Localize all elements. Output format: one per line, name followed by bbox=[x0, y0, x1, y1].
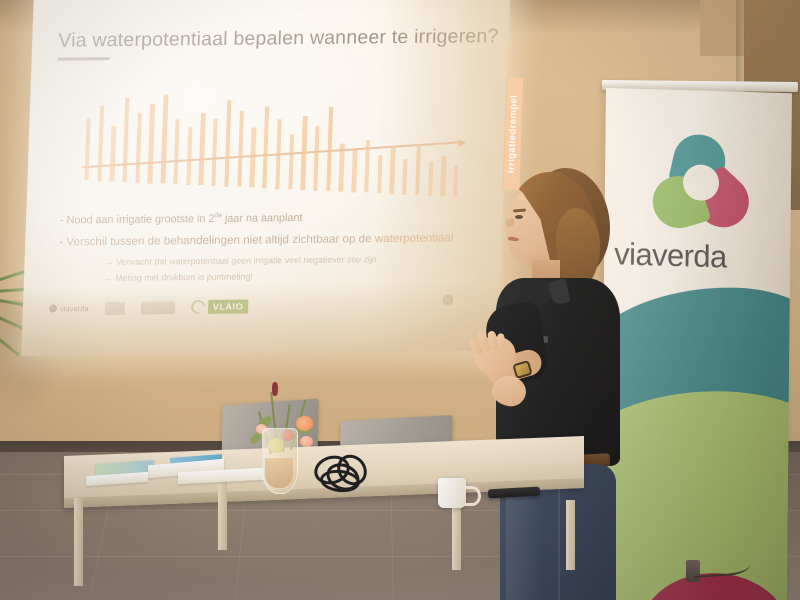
coffee-mug[interactable] bbox=[438, 478, 466, 508]
chart-bars bbox=[85, 72, 485, 76]
vlaio-swoosh-icon bbox=[188, 297, 208, 316]
flower-bloom bbox=[300, 436, 313, 447]
nose bbox=[505, 218, 514, 227]
bullet-text-tail: jaar na aanplant bbox=[222, 212, 303, 225]
chart-bar bbox=[97, 106, 104, 180]
chart-bar bbox=[288, 134, 294, 189]
chart-bar bbox=[390, 148, 396, 194]
threshold-label-text: Irrigatiedrempel bbox=[506, 95, 520, 173]
logo-center-hole bbox=[683, 164, 719, 201]
projection-screen: Via waterpotentiaal bepalen wanneer te i… bbox=[21, 0, 510, 356]
chart-bar bbox=[224, 100, 231, 186]
bullet-marker: - bbox=[59, 236, 63, 249]
sub-bullet-text: Verwacht dat waterpotentiaal geen irriga… bbox=[116, 254, 377, 267]
mug-handle bbox=[463, 486, 481, 506]
logo-partner-2 bbox=[141, 301, 175, 314]
chart-bar bbox=[148, 104, 155, 183]
chart-bar bbox=[135, 113, 142, 183]
chart-bar bbox=[186, 127, 192, 185]
bullet-highlight: waterpotentiaal bbox=[375, 231, 454, 245]
hair-lock bbox=[556, 208, 600, 288]
viaverda-mark-icon bbox=[49, 304, 57, 312]
chart-bar bbox=[415, 145, 421, 195]
flower-bloom bbox=[272, 382, 278, 396]
logo-viaverda-label: viaverda bbox=[60, 304, 89, 313]
sub-bullets: → Verwacht dat waterpotentiaal geen irri… bbox=[104, 250, 475, 286]
chart: Irrigatiedrempel bbox=[81, 72, 485, 184]
logo-viaverda: viaverda bbox=[49, 304, 89, 313]
sub-bullet-text: Meting met drukbom is puntmeting! bbox=[115, 271, 253, 282]
table-leg bbox=[218, 480, 227, 550]
chart-bar bbox=[84, 118, 91, 180]
chart-bar bbox=[377, 155, 383, 193]
chart-bar bbox=[237, 110, 244, 187]
logo-vlaio-label: VLAIO bbox=[208, 299, 249, 313]
table-leg bbox=[566, 500, 575, 570]
slide-bullets: - Nood aan irrigatie grootste in 2de jaa… bbox=[58, 206, 477, 286]
logo-partner-1 bbox=[104, 301, 124, 314]
viaverda-logo-icon bbox=[653, 133, 750, 232]
chart-bar bbox=[211, 119, 218, 186]
sub-bullet-marker: → bbox=[104, 273, 113, 283]
sub-bullet-marker: → bbox=[104, 257, 113, 267]
arrow-head-icon bbox=[458, 139, 465, 147]
chart-bar bbox=[250, 128, 256, 188]
chart-bar bbox=[199, 113, 206, 185]
slide: Via waterpotentiaal bepalen wanneer te i… bbox=[21, 0, 510, 356]
bullet-text: Nood aan irrigatie grootste in 2 bbox=[66, 213, 214, 227]
bullet-marker: - bbox=[60, 214, 64, 226]
chart-bar bbox=[110, 126, 116, 181]
chart-bar bbox=[351, 149, 357, 192]
slide-title: Via waterpotentiaal bepalen wanneer te i… bbox=[58, 25, 483, 52]
vase-water bbox=[265, 458, 293, 488]
chart-bar bbox=[428, 162, 434, 196]
flower-bloom bbox=[296, 416, 313, 431]
sub-bullet-2: → Meting met drukbom is puntmeting! bbox=[104, 266, 475, 286]
table-leg bbox=[74, 498, 83, 586]
chart-bar bbox=[440, 155, 446, 196]
logo-vlaio: VLAIO bbox=[191, 299, 249, 314]
slide-watermark-icon bbox=[442, 294, 453, 305]
photo-scene: Via waterpotentiaal bepalen wanneer te i… bbox=[0, 0, 800, 600]
title-underline bbox=[58, 57, 110, 61]
cable-bundle bbox=[310, 452, 368, 492]
chart-bar bbox=[453, 165, 458, 196]
chart-bar bbox=[313, 126, 320, 191]
slide-footer-logos: viaverda VLAIO bbox=[49, 299, 249, 315]
bullet-text: Verschil tussen de behandelingen niet al… bbox=[66, 232, 375, 248]
chart-bar bbox=[161, 95, 168, 184]
chart-bar bbox=[122, 98, 129, 182]
chart-bar bbox=[402, 158, 408, 194]
chart-bar bbox=[262, 107, 269, 189]
chart-bar bbox=[173, 119, 180, 184]
bullet-2: - Verschil tussen de behandelingen niet … bbox=[59, 227, 476, 254]
eye bbox=[515, 215, 523, 219]
